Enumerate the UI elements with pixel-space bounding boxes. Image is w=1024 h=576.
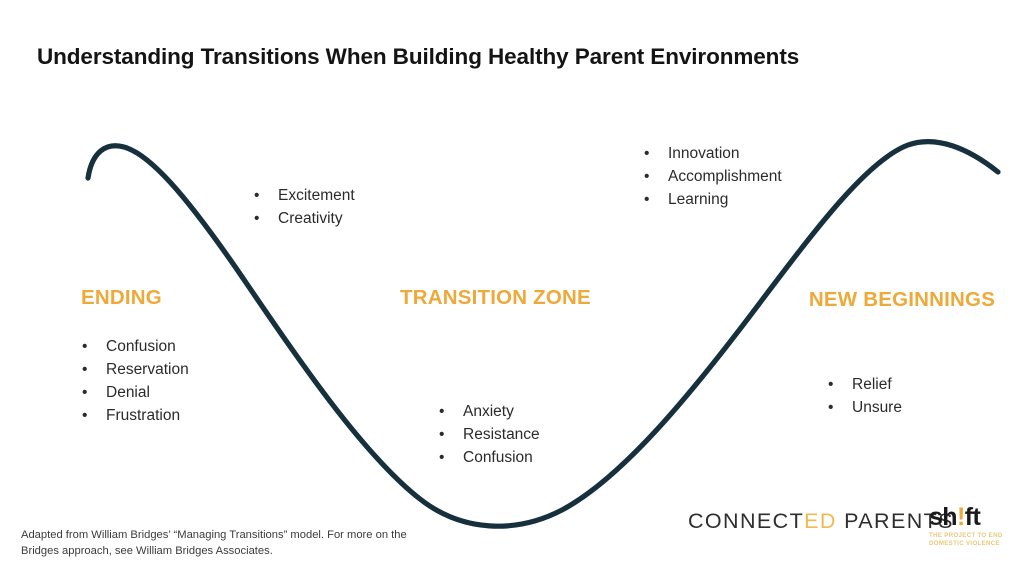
exclamation-icon: ! bbox=[957, 503, 965, 531]
list-item: Reservation bbox=[78, 358, 189, 381]
source-footnote: Adapted from William Bridges’ “Managing … bbox=[21, 528, 441, 559]
page-title: Understanding Transitions When Building … bbox=[37, 44, 799, 70]
list-item: Accomplishment bbox=[640, 165, 782, 188]
list-item: Excitement bbox=[250, 184, 355, 207]
logo-shift: sh!ft THE PROJECT TO END DOMESTIC VIOLEN… bbox=[929, 504, 1007, 547]
bullet-list-excitement: Excitement Creativity bbox=[250, 184, 355, 230]
list-item: Creativity bbox=[250, 207, 355, 230]
bullet-list-innovation: Innovation Accomplishment Learning bbox=[640, 142, 782, 211]
list-item: Confusion bbox=[435, 446, 540, 469]
stage-heading-ending: ENDING bbox=[81, 286, 162, 310]
logo-connected-parents-part1: CONNECT bbox=[688, 509, 804, 533]
logo-connected-parents-highlight: ED bbox=[804, 509, 837, 533]
list-item: Frustration bbox=[78, 404, 189, 427]
bullet-list-transition-zone: Anxiety Resistance Confusion bbox=[435, 400, 540, 469]
bullet-list-ending: Confusion Reservation Denial Frustration bbox=[78, 335, 189, 427]
logo-shift-word-after: ft bbox=[965, 503, 980, 531]
list-item: Learning bbox=[640, 188, 782, 211]
logo-shift-wordmark: sh!ft bbox=[929, 504, 1007, 531]
list-item: Innovation bbox=[640, 142, 782, 165]
list-item: Confusion bbox=[78, 335, 189, 358]
list-item: Unsure bbox=[824, 396, 902, 419]
list-item: Resistance bbox=[435, 423, 540, 446]
list-item: Relief bbox=[824, 373, 902, 396]
stage-heading-transition-zone: TRANSITION ZONE bbox=[400, 286, 591, 310]
bullet-list-new-beginnings: Relief Unsure bbox=[824, 373, 902, 419]
list-item: Denial bbox=[78, 381, 189, 404]
logo-connected-parents: CONNECTED PARENTS bbox=[688, 509, 954, 534]
list-item: Anxiety bbox=[435, 400, 540, 423]
stage-heading-new-beginnings: NEW BEGINNINGS bbox=[790, 286, 1014, 313]
slide-canvas: Understanding Transitions When Building … bbox=[0, 0, 1024, 576]
logo-shift-word-before: sh bbox=[929, 503, 957, 531]
logo-shift-tagline: THE PROJECT TO END DOMESTIC VIOLENCE bbox=[929, 532, 1007, 547]
